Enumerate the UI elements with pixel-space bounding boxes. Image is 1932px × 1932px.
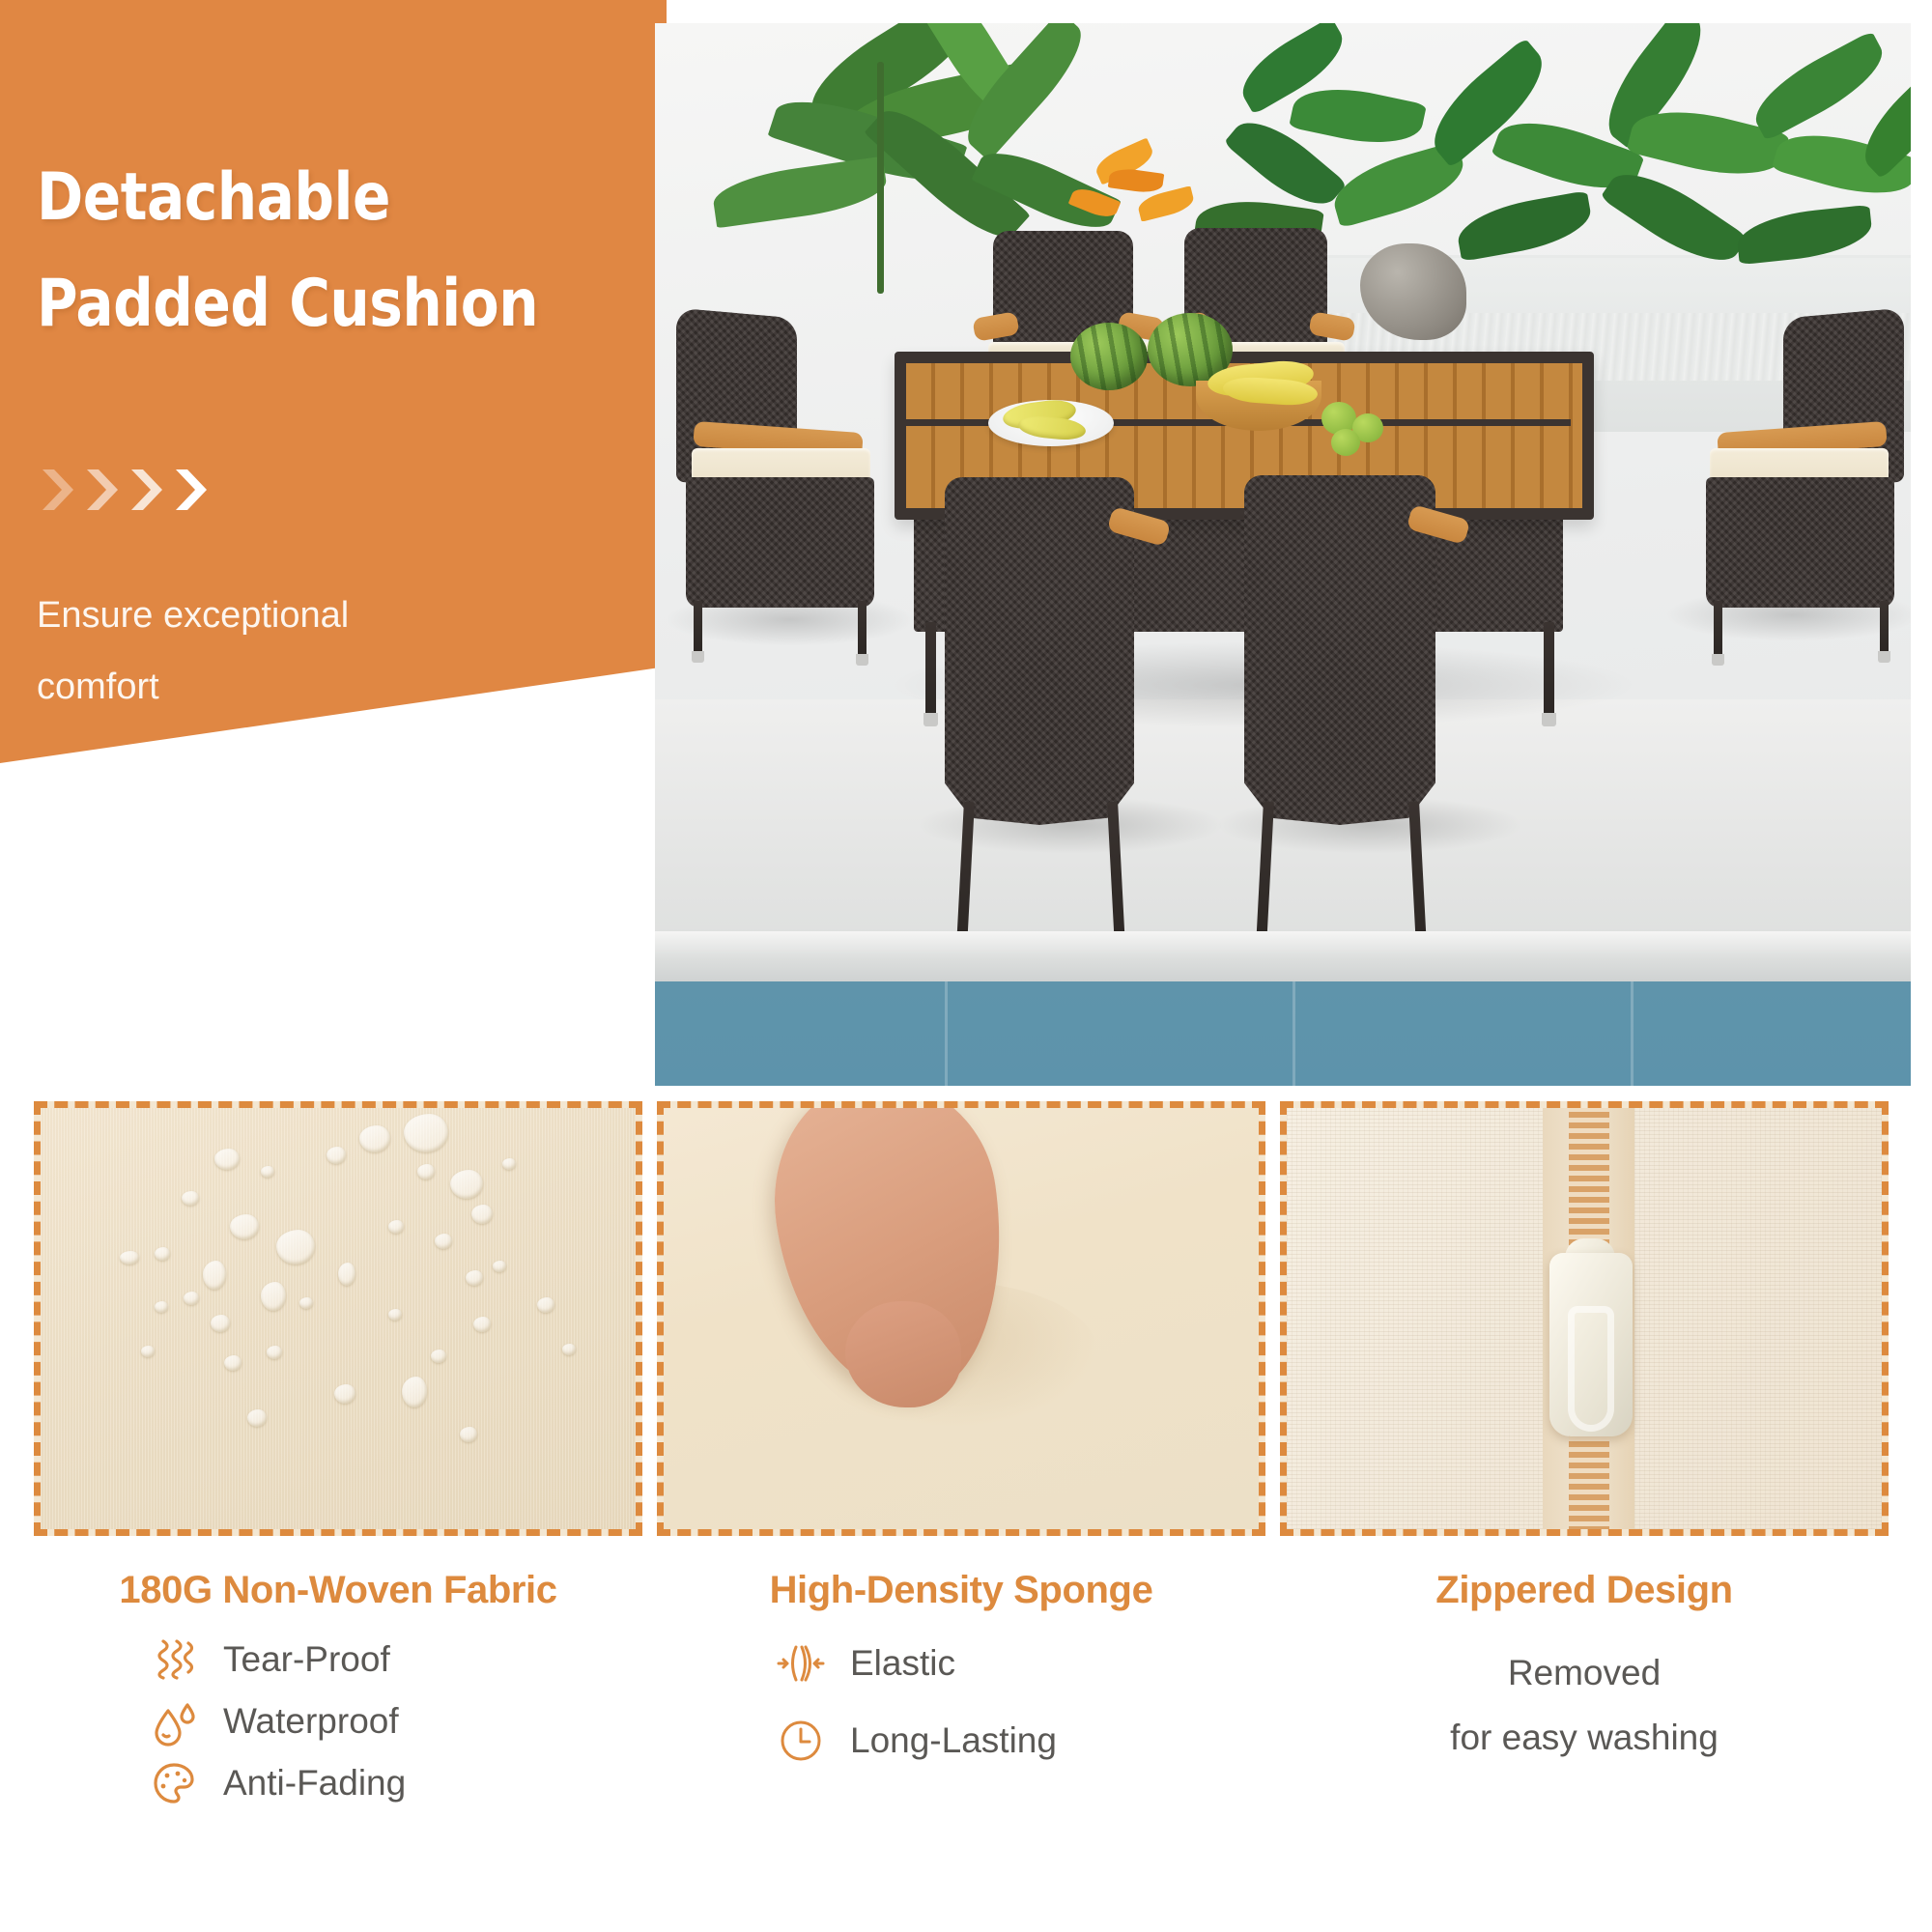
clock-icon (775, 1715, 827, 1767)
photo-chair-foot (856, 654, 868, 666)
elastic-compress-icon (775, 1637, 827, 1690)
feature-bullet-label: Tear-Proof (223, 1639, 390, 1680)
feature-bullet-long-lasting: Long-Lasting (775, 1715, 1265, 1767)
feature-bullet-waterproof: Waterproof (148, 1695, 642, 1747)
photo-plant-stalk (877, 62, 884, 294)
feature-bullet-label: Anti-Fading (223, 1763, 406, 1804)
feature-bullet-label: Elastic (850, 1643, 955, 1684)
feature-column-fabric: 180G Non-Woven Fabric Tear-Proof (34, 1101, 642, 1819)
photo-chair-leg (694, 601, 702, 654)
hand-pressing-sponge-photo (657, 1101, 1265, 1536)
photo-chair-leg (858, 601, 867, 657)
photo-chair-back (1244, 475, 1435, 825)
feature-bullet-tear-proof: Tear-Proof (148, 1634, 642, 1686)
hero-panel: Detachable Padded Cushion Ensure excepti… (0, 0, 667, 908)
photo-table-leg (925, 622, 936, 719)
photo-chair-body (1706, 477, 1894, 608)
chevron-right-icon-1 (39, 466, 81, 514)
photo-chair-back (945, 477, 1134, 825)
photo-pool-tiles (655, 981, 1911, 1086)
feature-bullets: Elastic Long-Lasting (657, 1637, 1265, 1767)
feature-title: 180G Non-Woven Fabric (34, 1569, 642, 1612)
chevron-right-icon-3 (128, 466, 170, 514)
photo-chair-foot (1712, 654, 1724, 666)
feature-bullets: Tear-Proof Waterproof (34, 1634, 642, 1809)
paint-palette-icon (148, 1757, 200, 1809)
page-title: Detachable Padded Cushion (37, 145, 624, 357)
feature-title: High-Density Sponge (657, 1569, 1265, 1612)
feature-column-zipper: Zippered Design Removed for easy washing (1280, 1101, 1889, 1770)
photo-chair-leg (1880, 601, 1889, 654)
hero-panel-inner: Detachable Padded Cushion Ensure excepti… (0, 0, 667, 908)
patio-dining-set-photo (655, 23, 1911, 1086)
features-section: 180G Non-Woven Fabric Tear-Proof (0, 1101, 1932, 1932)
feature-bullet-label: Waterproof (223, 1701, 399, 1742)
top-section: Detachable Padded Cushion Ensure excepti… (0, 0, 1932, 1101)
tear-lines-icon (148, 1634, 200, 1686)
photo-chair-foot (692, 651, 704, 663)
feature-description: Removed for easy washing (1280, 1641, 1889, 1770)
photo-lime (1331, 429, 1360, 456)
double-chevron-right-icon (39, 464, 261, 516)
photo-knuckles (845, 1301, 961, 1407)
chevron-right-icon-4 (172, 466, 214, 514)
photo-pool-ledge (655, 931, 1911, 981)
water-droplets-on-fabric-photo (34, 1101, 642, 1536)
photo-chair-body (686, 477, 874, 608)
photo-watermelon (1070, 323, 1148, 390)
water-drop-icon (148, 1695, 200, 1747)
feature-bullet-elastic: Elastic (775, 1637, 1265, 1690)
photo-table-foot (923, 713, 938, 726)
feature-title: Zippered Design (1280, 1569, 1889, 1612)
photo-chair-foot (1878, 651, 1890, 663)
photo-table-foot (1542, 713, 1556, 726)
feature-bullet-anti-fading: Anti-Fading (148, 1757, 642, 1809)
photo-chair-leg (1714, 601, 1722, 657)
photo-table-leg (1544, 622, 1554, 719)
zipper-closeup-photo (1280, 1101, 1889, 1536)
hero-subtitle: Ensure exceptional comfort (37, 580, 616, 723)
feature-column-sponge: High-Density Sponge Elastic (657, 1101, 1265, 1792)
photo-zipper-pull (1568, 1306, 1614, 1432)
feature-bullet-label: Long-Lasting (850, 1720, 1057, 1761)
chevron-right-icon-2 (83, 466, 126, 514)
